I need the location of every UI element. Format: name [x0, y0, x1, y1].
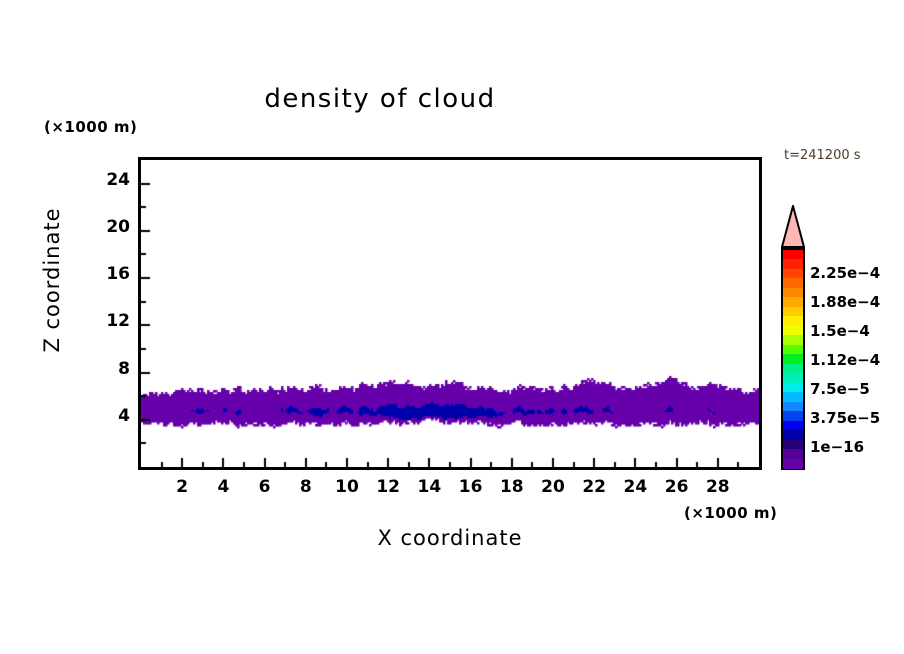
x-tick-label: 14: [418, 477, 442, 497]
colorbar-tick-label: 2.25e−4: [810, 264, 880, 282]
y-axis-tick-labels: 4812162024: [96, 157, 130, 470]
page-title: density of cloud: [0, 84, 760, 114]
x-tick-label: 16: [459, 477, 483, 497]
colorbar-tick-label: 3.75e−5: [810, 409, 880, 427]
x-tick-label: 2: [176, 477, 188, 497]
plot-area: [138, 157, 762, 470]
colorbar-tick-label: 1.88e−4: [810, 293, 880, 311]
colorbar-tick-label: 7.5e−5: [810, 380, 870, 398]
axis-tick-marks: [141, 160, 759, 467]
x-tick-label: 28: [706, 477, 730, 497]
x-tick-label: 18: [500, 477, 524, 497]
x-axis-title: X coordinate: [138, 526, 762, 550]
y-tick-label: 16: [106, 264, 130, 284]
x-tick-label: 22: [582, 477, 606, 497]
colorbar-tick-label: 1e−16: [810, 438, 864, 456]
x-axis-tick-labels: 246810121416182022242628: [138, 477, 762, 501]
y-tick-label: 4: [118, 406, 130, 426]
y-axis-units-label: (×1000 m): [44, 118, 137, 136]
y-tick-label: 20: [106, 217, 130, 237]
colorbar-tick-labels: 2.25e−41.88e−41.5e−41.12e−47.5e−53.75e−5…: [810, 205, 904, 470]
x-tick-label: 8: [300, 477, 312, 497]
x-tick-label: 6: [259, 477, 271, 497]
x-tick-label: 20: [541, 477, 565, 497]
x-tick-label: 10: [335, 477, 359, 497]
x-tick-label: 24: [624, 477, 648, 497]
y-axis-title: Z coordinate: [40, 180, 64, 380]
colorbar: [781, 205, 805, 470]
colorbar-tick-label: 1.5e−4: [810, 322, 870, 340]
x-tick-label: 4: [217, 477, 229, 497]
x-tick-label: 26: [665, 477, 689, 497]
colorbar-color-bands: [781, 248, 805, 470]
colorbar-band: [783, 459, 803, 469]
x-axis-units-label: (×1000 m): [684, 504, 777, 522]
colorbar-overflow-arrow-icon: [781, 205, 805, 248]
y-tick-label: 12: [106, 311, 130, 331]
y-tick-label: 8: [118, 359, 130, 379]
colorbar-tick-label: 1.12e−4: [810, 351, 880, 369]
x-tick-label: 12: [376, 477, 400, 497]
time-stamp-annotation: t=241200 s: [784, 148, 861, 163]
plot-interior: [141, 160, 759, 467]
y-tick-label: 24: [106, 170, 130, 190]
